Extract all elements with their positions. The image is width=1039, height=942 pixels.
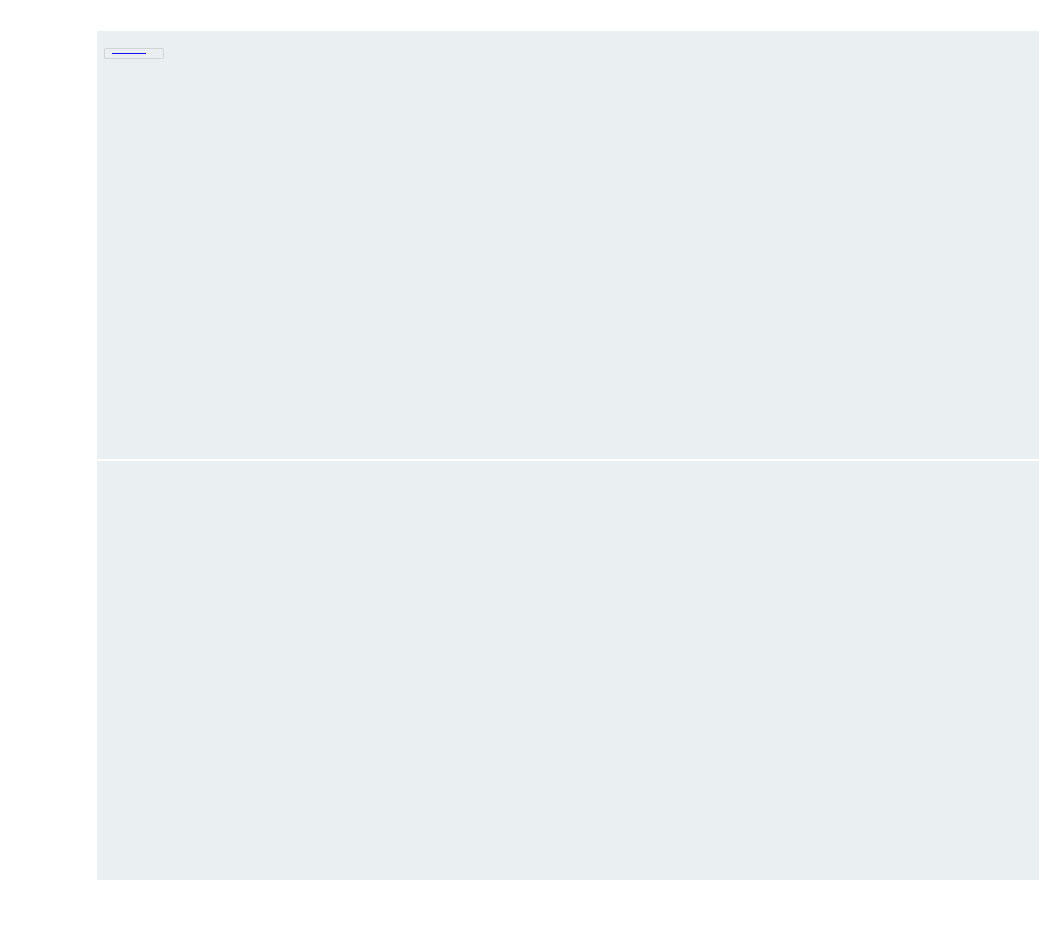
chart-figure [0, 0, 1039, 942]
median-trend-line [97, 31, 1039, 459]
bar-panel [97, 461, 1039, 880]
boxplot-panel [97, 31, 1039, 459]
legend-line-icon [112, 53, 146, 54]
legend[interactable] [104, 48, 164, 59]
